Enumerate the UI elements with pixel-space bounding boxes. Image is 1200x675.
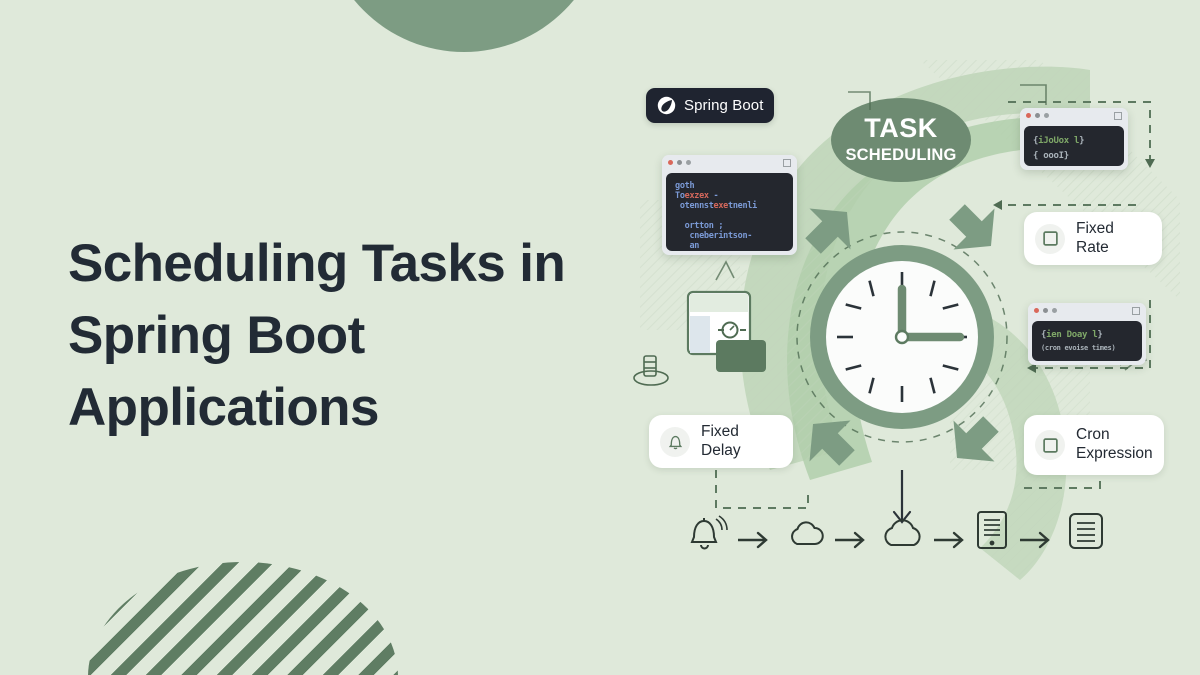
striped-semicircle-decor [88, 562, 398, 675]
code-body: {iJoUox l} { oooI} [1024, 126, 1124, 166]
square-icon [1035, 224, 1065, 254]
minimize-dot-icon[interactable] [677, 160, 682, 165]
code-window-fixed-rate[interactable]: {iJoUox l} { oooI} [1020, 108, 1128, 170]
cloud-icon [792, 522, 823, 544]
analog-clock-icon [810, 245, 994, 429]
expand-square-icon[interactable] [783, 159, 791, 167]
expand-square-icon[interactable] [1132, 307, 1140, 315]
chip-label: Fixed Delay [701, 423, 777, 461]
window-titlebar [1028, 303, 1146, 318]
chip-fixed-rate[interactable]: Fixed Rate [1024, 212, 1162, 265]
title-line-3: Applications [68, 372, 628, 444]
chip-cron-expression[interactable]: Cron Expression [1024, 415, 1164, 475]
illustration-panel: TASK SCHEDULING Spring Boot goth Toexzex… [620, 0, 1200, 675]
title-line-2: Spring Boot [68, 300, 628, 372]
arrow-right-icon [835, 533, 863, 547]
code-body: {ien Doay l} (cron evoise times) [1032, 321, 1142, 361]
bell-ringing-icon [692, 516, 727, 549]
window-titlebar [662, 155, 797, 170]
maximize-dot-icon[interactable] [686, 160, 691, 165]
spring-boot-badge[interactable]: Spring Boot [646, 88, 774, 123]
spring-leaf-icon [657, 96, 676, 115]
code-window-cron[interactable]: {ien Doay l} (cron evoise times) [1028, 303, 1146, 365]
maximize-dot-icon[interactable] [1044, 113, 1049, 118]
stack-icon-sketch [634, 356, 668, 385]
bell-icon [660, 427, 690, 457]
minimize-dot-icon[interactable] [1035, 113, 1040, 118]
green-circle-decor [322, 0, 606, 52]
arrow-right-icon [934, 533, 962, 547]
page-title: Scheduling Tasks in Spring Boot Applicat… [68, 228, 628, 444]
close-dot-icon[interactable] [1026, 113, 1031, 118]
expand-square-icon[interactable] [1114, 112, 1122, 120]
cloud-icon [885, 520, 919, 545]
arrow-right-icon [738, 533, 766, 547]
square-icon [1035, 430, 1065, 460]
task-scheduling-ellipse [831, 98, 971, 182]
document-lines-icon [1070, 514, 1102, 548]
chip-label-line-2: Expression [1076, 445, 1153, 462]
code-window-main[interactable]: goth Toexzex - otennstexetnenli ortton ;… [662, 155, 797, 255]
code-body: goth Toexzex - otennstexetnenli ortton ;… [666, 173, 793, 251]
chip-label-line-1: Cron [1076, 426, 1110, 443]
minimize-dot-icon[interactable] [1043, 308, 1048, 313]
maximize-dot-icon[interactable] [1052, 308, 1057, 313]
window-titlebar [1020, 108, 1128, 123]
chip-fixed-delay[interactable]: Fixed Delay [649, 415, 793, 468]
chip-label: Fixed Rate [1076, 220, 1146, 258]
poster-canvas: Scheduling Tasks in Spring Boot Applicat… [0, 0, 1200, 675]
spring-boot-badge-label: Spring Boot [684, 97, 763, 114]
chip-label: Cron Expression [1076, 426, 1153, 464]
title-line-1: Scheduling Tasks in [68, 228, 628, 300]
close-dot-icon[interactable] [668, 160, 673, 165]
down-arrow-icon [894, 470, 910, 522]
close-dot-icon[interactable] [1034, 308, 1039, 313]
